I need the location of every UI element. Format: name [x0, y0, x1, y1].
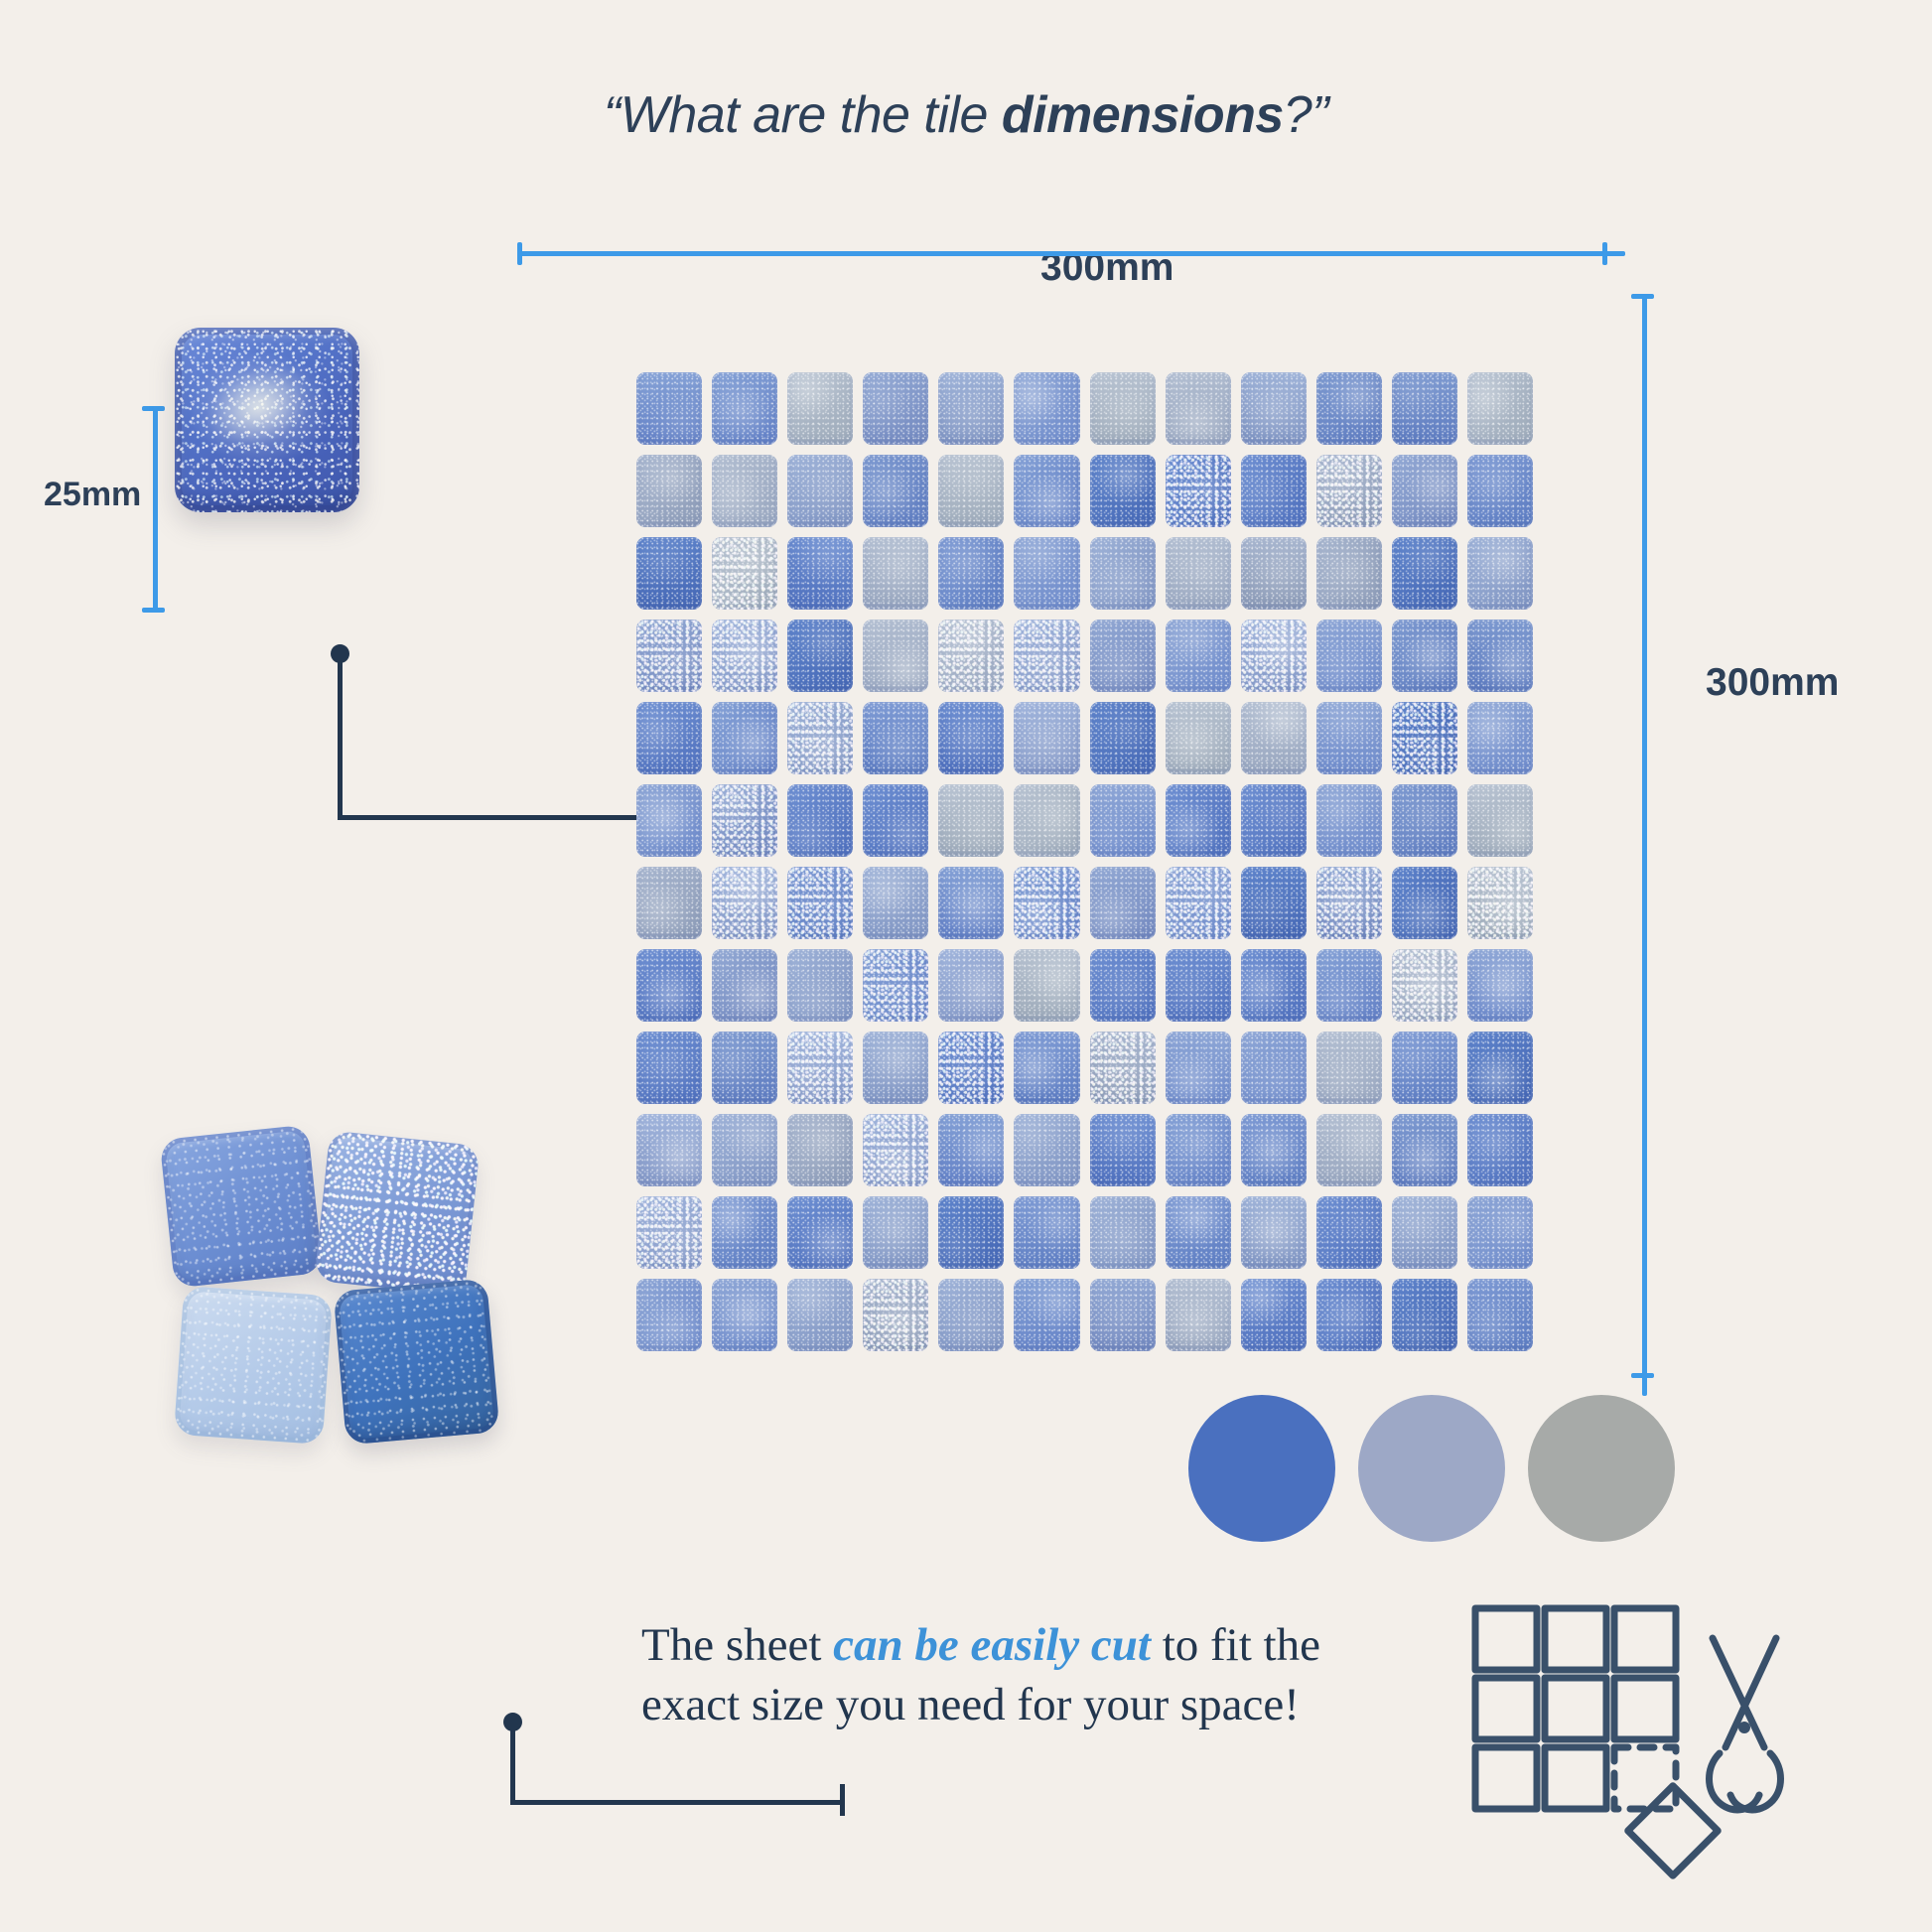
mosaic-tile: [712, 372, 777, 445]
mosaic-tile: [636, 702, 702, 774]
mosaic-tile: [712, 1114, 777, 1186]
mosaic-tile: [1014, 1114, 1079, 1186]
scissors-icon: [1710, 1638, 1781, 1810]
mosaic-tile: [1316, 1032, 1382, 1104]
mosaic-tile: [712, 702, 777, 774]
mosaic-tile: [1316, 1279, 1382, 1351]
mosaic-tile: [1014, 949, 1079, 1022]
mosaic-tile: [1166, 1196, 1231, 1269]
grid-square-2: [1545, 1608, 1606, 1670]
mosaic-tile: [1316, 1196, 1382, 1269]
mosaic-tile: [1241, 537, 1307, 610]
cut-callout-tick: [840, 1784, 845, 1816]
mosaic-tile: [1316, 784, 1382, 857]
mosaic-tile: [938, 537, 1004, 610]
grid-square-7: [1475, 1747, 1537, 1809]
loose-tile-3-sparkle: [174, 1286, 333, 1445]
mosaic-tile: [1467, 372, 1533, 445]
mosaic-tile: [1166, 537, 1231, 610]
mosaic-tile: [1316, 702, 1382, 774]
loose-tile-4: [334, 1279, 500, 1446]
mosaic-tile: [1090, 620, 1156, 692]
mosaic-tile: [787, 537, 853, 610]
mosaic-tile: [1241, 620, 1307, 692]
mosaic-tile: [787, 372, 853, 445]
loose-tile-2: [314, 1130, 480, 1296]
page-title-emphasis: dimensions: [1002, 86, 1284, 144]
mosaic-tile: [712, 867, 777, 939]
mosaic-tile: [1090, 1114, 1156, 1186]
loose-tile-1: [160, 1125, 324, 1289]
grid-square-6: [1614, 1678, 1676, 1739]
mosaic-tile: [1316, 867, 1382, 939]
grid-square-4: [1475, 1678, 1537, 1739]
mosaic-tile: [1166, 620, 1231, 692]
grid-square-8: [1545, 1747, 1606, 1809]
page-title-part-3: ?”: [1284, 86, 1328, 144]
swatch-grey: [1528, 1395, 1675, 1542]
mosaic-tile: [1014, 1032, 1079, 1104]
mosaic-tile: [1467, 1279, 1533, 1351]
mosaic-tile: [1392, 537, 1457, 610]
page-title-part-1: “What are the tile: [604, 86, 1002, 144]
mosaic-tile: [636, 1196, 702, 1269]
mosaic-tile: [863, 537, 928, 610]
mosaic-tile: [863, 1196, 928, 1269]
mosaic-tile: [1166, 455, 1231, 527]
mosaic-tile: [938, 620, 1004, 692]
mosaic-tile: [863, 1032, 928, 1104]
mosaic-tile: [1090, 1279, 1156, 1351]
mosaic-tile: [1392, 784, 1457, 857]
mosaic-tile: [712, 537, 777, 610]
mosaic-tile: [787, 784, 853, 857]
tile-callout-vertical: [338, 657, 343, 818]
tile-callout-horizontal: [338, 815, 683, 820]
cut-caption-before: The sheet: [641, 1619, 833, 1671]
mosaic-tile: [787, 1279, 853, 1351]
mosaic-tile: [1166, 702, 1231, 774]
sheet-height-label: 300mm: [1706, 661, 1839, 705]
mosaic-tile: [1014, 537, 1079, 610]
mosaic-tile: [1392, 867, 1457, 939]
mosaic-tile: [787, 1114, 853, 1186]
mosaic-tile: [636, 1114, 702, 1186]
mosaic-tile: [1467, 455, 1533, 527]
mosaic-tile: [1316, 537, 1382, 610]
mosaic-tile: [1014, 867, 1079, 939]
mosaic-tile: [1467, 1196, 1533, 1269]
infographic-canvas: “What are the tile dimensions?” 25mm 25m…: [0, 0, 1932, 1932]
mosaic-tile: [712, 949, 777, 1022]
mosaic-tile: [636, 867, 702, 939]
mosaic-tile: [863, 1114, 928, 1186]
mosaic-tile: [938, 1196, 1004, 1269]
mosaic-tile: [938, 702, 1004, 774]
mosaic-tile: [863, 867, 928, 939]
mosaic-tile: [1166, 1114, 1231, 1186]
mosaic-tile: [1014, 1196, 1079, 1269]
mosaic-tile: [1392, 1196, 1457, 1269]
mosaic-tile: [1241, 455, 1307, 527]
mosaic-tile: [712, 455, 777, 527]
mosaic-tile: [787, 1196, 853, 1269]
mosaic-tile: [787, 702, 853, 774]
mosaic-tile: [863, 620, 928, 692]
mosaic-tile: [1467, 537, 1533, 610]
grid-square-9-dashed: [1614, 1747, 1676, 1809]
mosaic-tile: [938, 372, 1004, 445]
mosaic-tile: [863, 372, 928, 445]
mosaic-tile: [1467, 1032, 1533, 1104]
grid-with-scissors-icon: [1469, 1602, 1787, 1895]
mosaic-tile: [863, 455, 928, 527]
mosaic-tile: [1241, 1279, 1307, 1351]
mosaic-tile: [1392, 1279, 1457, 1351]
cut-callout-horizontal: [510, 1800, 845, 1805]
mosaic-tile: [1241, 867, 1307, 939]
mosaic-tile: [1392, 620, 1457, 692]
mosaic-tile: [938, 784, 1004, 857]
mosaic-tile: [636, 455, 702, 527]
mosaic-tile: [1241, 1114, 1307, 1186]
mosaic-tile: [1014, 784, 1079, 857]
mosaic-tile: [1090, 1196, 1156, 1269]
mosaic-tile: [636, 620, 702, 692]
sheet-height-cap-bottom: [1631, 1373, 1654, 1378]
mosaic-tile: [636, 537, 702, 610]
mosaic-tile: [1090, 784, 1156, 857]
mosaic-tile: [1014, 1279, 1079, 1351]
loose-tile-3: [174, 1286, 333, 1445]
mosaic-tile: [1392, 1032, 1457, 1104]
mosaic-tile: [1467, 949, 1533, 1022]
mosaic-tile: [1467, 1114, 1533, 1186]
tile-height-cap-top: [142, 406, 165, 411]
mosaic-tile: [1090, 455, 1156, 527]
mosaic-tile: [1166, 1279, 1231, 1351]
mosaic-tile: [712, 1032, 777, 1104]
sheet-width-cap-left: [517, 242, 522, 265]
mosaic-tile: [863, 949, 928, 1022]
tile-height-label: 25mm: [44, 476, 141, 514]
mosaic-tile: [1014, 620, 1079, 692]
mosaic-tile: [1014, 702, 1079, 774]
mosaic-tile: [1166, 372, 1231, 445]
mosaic-tile: [636, 949, 702, 1022]
mosaic-tile: [1090, 867, 1156, 939]
mosaic-tile: [938, 455, 1004, 527]
loose-tile-1-sparkle: [160, 1125, 324, 1289]
mosaic-tile: [1467, 784, 1533, 857]
mosaic-tile: [712, 1196, 777, 1269]
mosaic-tile: [1090, 537, 1156, 610]
mosaic-tile: [1241, 949, 1307, 1022]
mosaic-tile: [1392, 455, 1457, 527]
mosaic-tile: [1166, 1032, 1231, 1104]
mosaic-tile: [1392, 702, 1457, 774]
mosaic-tile: [1241, 1196, 1307, 1269]
tile-height-cap-bottom: [142, 608, 165, 613]
mosaic-tile: [938, 1032, 1004, 1104]
mosaic-tile: [938, 949, 1004, 1022]
mosaic-tile: [636, 784, 702, 857]
mosaic-tile: [1316, 455, 1382, 527]
mosaic-tile: [938, 1114, 1004, 1186]
mosaic-tile: [1316, 620, 1382, 692]
mosaic-tile: [787, 949, 853, 1022]
mosaic-tile: [1316, 949, 1382, 1022]
sheet-width-dimension-line: [517, 251, 1625, 256]
mosaic-tile: [1241, 1032, 1307, 1104]
mosaic-tile: [787, 867, 853, 939]
mosaic-tile: [1166, 949, 1231, 1022]
mosaic-tile: [1241, 702, 1307, 774]
mosaic-tile: [636, 372, 702, 445]
mosaic-tile: [787, 620, 853, 692]
mosaic-tile: [1392, 949, 1457, 1022]
mosaic-tile: [787, 1032, 853, 1104]
mosaic-tile: [1166, 784, 1231, 857]
mosaic-tile: [712, 1279, 777, 1351]
loose-tile-4-sparkle: [334, 1279, 500, 1446]
mosaic-tile: [1467, 620, 1533, 692]
cut-caption: The sheet can be easily cut to fit the e…: [641, 1615, 1356, 1734]
mosaic-tile: [1241, 784, 1307, 857]
grid-square-3: [1614, 1608, 1676, 1670]
mosaic-tile: [1316, 1114, 1382, 1186]
mosaic-tile: [1241, 372, 1307, 445]
mosaic-tile: [1392, 1114, 1457, 1186]
sheet-width-cap-right: [1602, 242, 1607, 265]
mosaic-tile: [1090, 372, 1156, 445]
mosaic-tile: [1166, 867, 1231, 939]
mosaic-tile: [787, 455, 853, 527]
page-title: “What are the tile dimensions?”: [0, 85, 1932, 145]
cut-callout-vertical: [510, 1725, 515, 1803]
sheet-height-dimension-line: [1642, 294, 1647, 1396]
mosaic-tile: [1014, 372, 1079, 445]
sheet-height-cap-top: [1631, 294, 1654, 299]
cut-caption-highlight: can be easily cut: [833, 1619, 1151, 1671]
mosaic-sheet-grid: [636, 372, 1533, 1351]
featured-tile-closeup: [175, 328, 359, 512]
swatch-periwinkle: [1358, 1395, 1505, 1542]
mosaic-tile: [712, 620, 777, 692]
mosaic-tile: [938, 867, 1004, 939]
mosaic-tile: [1090, 1032, 1156, 1104]
mosaic-tile: [636, 1279, 702, 1351]
mosaic-tile: [863, 1279, 928, 1351]
mosaic-tile: [1467, 867, 1533, 939]
tile-height-dimension-line: [153, 406, 158, 613]
mosaic-tile: [1014, 455, 1079, 527]
mosaic-tile: [1467, 702, 1533, 774]
mosaic-tile: [1316, 372, 1382, 445]
swatch-blue: [1188, 1395, 1335, 1542]
grid-square-5: [1545, 1678, 1606, 1739]
grid-square-1: [1475, 1608, 1537, 1670]
mosaic-tile: [1392, 372, 1457, 445]
loose-tile-2-iridescence: [314, 1130, 480, 1296]
mosaic-tile: [1090, 949, 1156, 1022]
mosaic-tile: [712, 784, 777, 857]
mosaic-tile: [1090, 702, 1156, 774]
mosaic-tile: [938, 1279, 1004, 1351]
mosaic-tile: [863, 702, 928, 774]
mosaic-tile: [863, 784, 928, 857]
mosaic-tile: [636, 1032, 702, 1104]
